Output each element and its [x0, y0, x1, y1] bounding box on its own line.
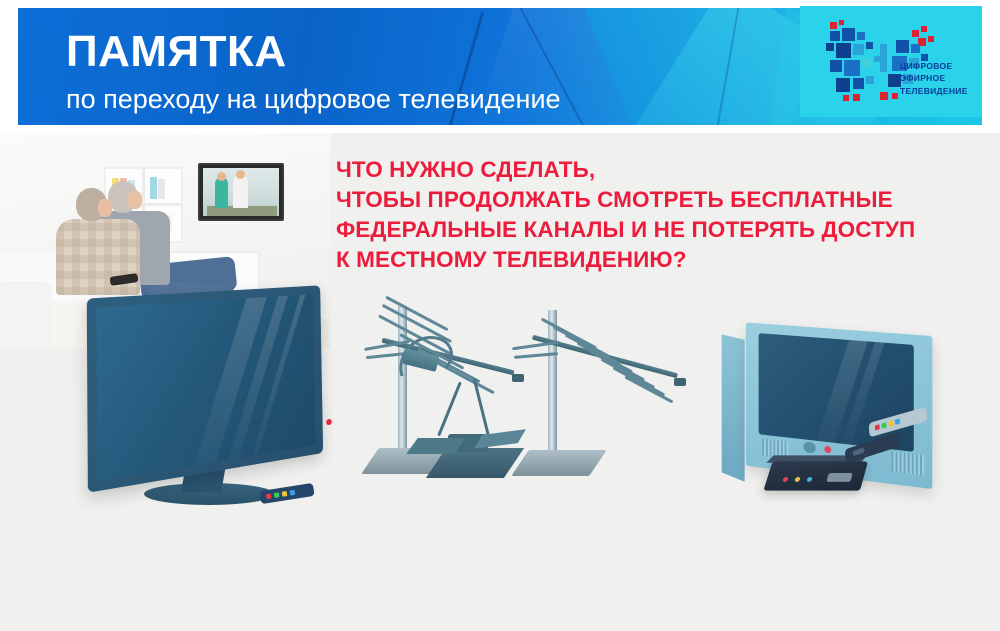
remote-button — [881, 422, 886, 428]
logo-text: ЦИФРОВОЕ ЭФИРНОЕ ТЕЛЕВИДЕНИЕ — [900, 60, 986, 97]
headline-line-1: ЧТО НУЖНО СДЕЛАТЬ, — [336, 155, 986, 185]
person-face — [128, 191, 142, 209]
antenna-illustrations — [352, 298, 692, 503]
tv-side-panel — [722, 334, 745, 482]
headline-line-3: ФЕДЕРАЛЬНЫЕ КАНАЛЫ И НЕ ПОТЕРЯТЬ ДОСТУП — [336, 215, 986, 245]
cooking-show-person — [215, 178, 228, 208]
book — [150, 177, 157, 199]
cooking-show-person — [233, 176, 248, 208]
antenna-base-plate — [511, 450, 607, 476]
modern-tv-illustration — [88, 291, 348, 506]
headline-line-4: К МЕСТНОМУ ТЕЛЕВИДЕНИЮ? — [336, 245, 986, 275]
digital-settopbox — [763, 462, 868, 491]
tv-speaker-grill — [891, 451, 924, 475]
logo-text-line-3: ТЕЛЕВИДЕНИЕ — [900, 85, 986, 97]
indoor-antenna-rod — [437, 382, 462, 437]
remote-button — [875, 424, 880, 430]
antenna-mast — [548, 310, 557, 456]
logo-text-line-2: ЭФИРНОЕ — [900, 72, 986, 84]
page-subtitle: по переходу на цифровое телевидение — [66, 86, 561, 113]
tv-remote-control — [259, 483, 314, 504]
tv-power-led — [326, 419, 332, 426]
antenna-boom-cap — [674, 378, 686, 386]
indoor-antenna-fin — [474, 429, 526, 448]
remote-button — [266, 494, 272, 500]
antenna-element — [625, 375, 674, 403]
remote-button — [895, 418, 900, 424]
poster-root: ПАМЯТКА по переходу на цифровое телевиде… — [0, 0, 1000, 631]
tv-power-led — [824, 446, 831, 454]
crt-tv-with-settopbox-illustration — [712, 323, 962, 503]
tv-screen-content — [203, 168, 279, 216]
page-title: ПАМЯТКА — [66, 30, 287, 74]
tv-screen — [96, 294, 315, 481]
tv-body — [87, 285, 323, 492]
settopbox-display — [826, 473, 853, 482]
cooking-show-person-head — [236, 170, 245, 179]
antenna-boom-cap — [512, 374, 524, 382]
tv-control-knob — [803, 441, 815, 453]
wall-mounted-tv — [198, 163, 284, 221]
remote-button — [290, 490, 296, 496]
remote-button — [274, 492, 280, 498]
settopbox-led — [782, 477, 789, 482]
sofa-armrest — [0, 281, 52, 348]
headline: ЧТО НУЖНО СДЕЛАТЬ, ЧТОБЫ ПРОДОЛЖАТЬ СМОТ… — [336, 155, 986, 275]
main-content: ЧТО НУЖНО СДЕЛАТЬ, ЧТОБЫ ПРОДОЛЖАТЬ СМОТ… — [0, 133, 1000, 631]
remote-button — [853, 447, 865, 456]
book — [158, 179, 165, 199]
person-face — [98, 199, 112, 217]
remote-button — [282, 491, 288, 497]
headline-line-2: ЧТОБЫ ПРОДОЛЖАТЬ СМОТРЕТЬ БЕСПЛАТНЫЕ — [336, 185, 986, 215]
person-shirt-pattern — [56, 219, 140, 295]
settopbox-led — [806, 477, 812, 482]
header-facet-line — [697, 8, 741, 125]
settopbox-led — [794, 477, 800, 482]
logo-text-line-1: ЦИФРОВОЕ — [900, 60, 986, 72]
remote-button — [888, 420, 893, 426]
cooking-show-person-head — [217, 172, 226, 181]
